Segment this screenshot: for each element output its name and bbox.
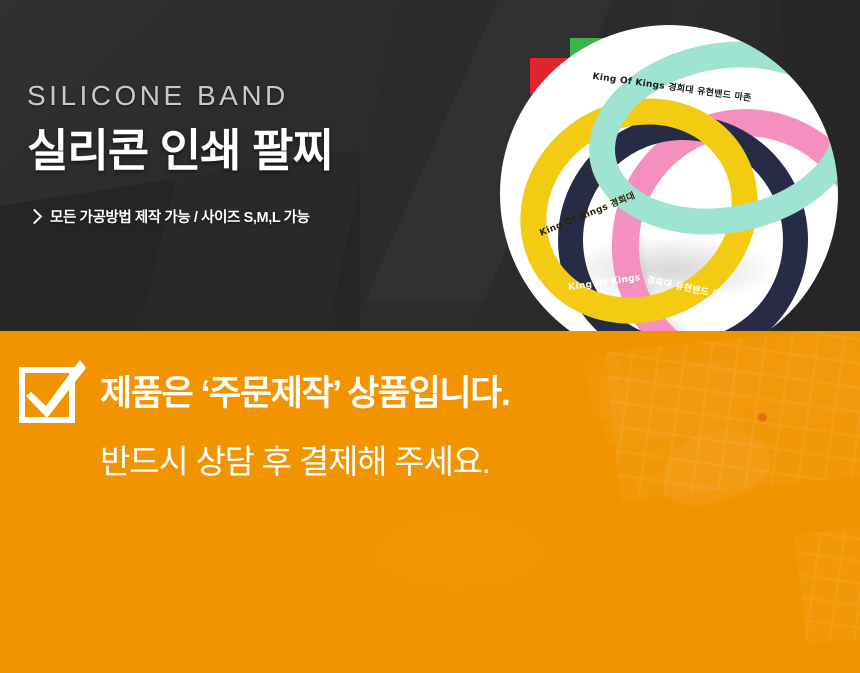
hero-eyebrow: SILICONE BAND (27, 82, 333, 110)
chevron-right-icon (27, 209, 43, 225)
ghost-mouse (652, 416, 778, 517)
ghost-mousepad (596, 358, 744, 447)
page-title: 실리콘 인쇄 팔찌 (27, 126, 333, 176)
ghost-wrist-rest (584, 353, 627, 421)
ghost-red-dot (758, 413, 767, 422)
product-detail-banner: King Of Kings 경희대 유현밴드 마존 King Of Kings … (0, 0, 860, 673)
ghost-keyboard (605, 331, 860, 501)
notice-line-1: 제품은 ‘주문제작’ 상품입니다. (100, 365, 509, 416)
checkbox-checked-icon (18, 356, 86, 426)
hero-section: King Of Kings 경희대 유현밴드 마존 King Of Kings … (0, 0, 860, 331)
hero-subline-label: 모든 가공방법 제작 가능 / 사이즈 S,M,L 가능 (50, 206, 310, 227)
ghost-highlight (330, 491, 590, 611)
ghost-edge-line (140, 561, 460, 563)
hero-copy: SILICONE BAND 실리콘 인쇄 팔찌 모든 가공방법 제작 가능 / … (27, 82, 333, 227)
hero-subline: 모든 가공방법 제작 가능 / 사이즈 S,M,L 가능 (27, 206, 333, 227)
wristband-group: King Of Kings 경희대 유현밴드 마존 King Of Kings … (500, 25, 838, 331)
ghost-arc (690, 331, 860, 441)
ghost-keyboard-2 (795, 518, 860, 644)
product-photo: King Of Kings 경희대 유현밴드 마존 King Of Kings … (500, 25, 838, 331)
notice-line-2: 반드시 상담 후 결제해 주세요. (100, 435, 490, 483)
